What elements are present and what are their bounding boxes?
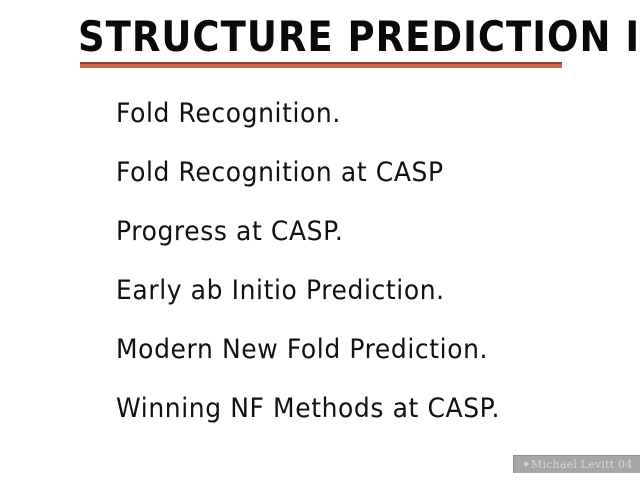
list-item: Fold Recognition at CASP [116, 151, 616, 215]
title-block: STRUCTURE PREDICTION II [78, 12, 562, 58]
list-item: Modern New Fold Prediction. [116, 328, 616, 392]
copyright-watermark-badge: ✦Michael Levitt 04 [513, 455, 640, 473]
list-item: Early ab Initio Prediction. [116, 269, 616, 333]
list-item: Fold Recognition. [116, 92, 616, 156]
presentation-slide: STRUCTURE PREDICTION II Fold Recognition… [0, 0, 640, 480]
bullet-list: Fold Recognition. Fold Recognition at CA… [116, 94, 616, 448]
list-item: Winning NF Methods at CASP. [116, 387, 616, 451]
copyright-watermark-text: ✦Michael Levitt 04 [522, 458, 633, 471]
list-item: Progress at CASP. [116, 210, 616, 274]
page-title: STRUCTURE PREDICTION II [78, 12, 562, 64]
title-underline-rule [80, 62, 562, 68]
